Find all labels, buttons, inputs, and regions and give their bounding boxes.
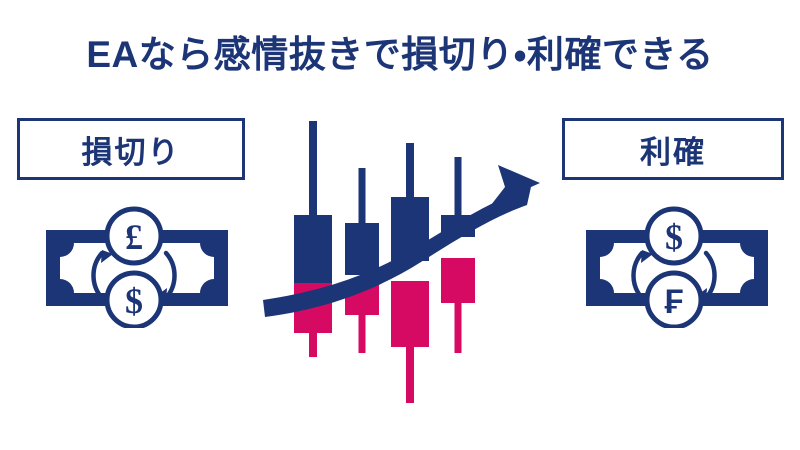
infographic-canvas: EAなら感情抜きで損切り・利確できる 損切り 利確 [0, 0, 800, 450]
candle-pink-body [391, 281, 429, 347]
take-profit-label-box: 利確 [562, 118, 784, 180]
stop-loss-label-text: 損切り [82, 127, 181, 172]
candle-upper-wick [309, 121, 317, 215]
candlestick-chart [255, 95, 555, 415]
candle-lower-wick [359, 315, 366, 353]
take-profit-label-text: 利確 [640, 127, 706, 172]
bottom-currency-coin: ₣ [647, 273, 701, 327]
page-title: EAなら感情抜きで損切り・利確できる [0, 33, 800, 77]
candle-navy-body [345, 223, 379, 275]
currency-exchange-icon-right: $ ₣ [582, 198, 772, 328]
candle-lower-wick [406, 347, 414, 403]
currency-exchange-banknote-usd-franc-icon: $ ₣ [582, 198, 772, 328]
candle-upper-wick [455, 157, 462, 215]
bottom-currency-symbol: $ [125, 281, 143, 321]
bottom-currency-coin: $ [107, 273, 161, 327]
currency-exchange-icon-left: £ $ [42, 198, 232, 328]
candle-pink-body [441, 258, 475, 303]
top-currency-symbol: $ [665, 217, 683, 257]
top-currency-coin: £ [107, 209, 161, 263]
top-currency-symbol: £ [125, 217, 143, 257]
bottom-currency-symbol: ₣ [665, 283, 684, 321]
top-currency-coin: $ [647, 209, 701, 263]
candle-upper-wick [359, 168, 366, 223]
candle-lower-wick [309, 333, 317, 357]
currency-exchange-banknote-gbp-usd-icon: £ $ [42, 198, 232, 328]
candle-lower-wick [455, 303, 462, 353]
candlestick-chart-svg [255, 95, 555, 415]
stop-loss-label-box: 損切り [17, 118, 245, 180]
candle-navy-body [294, 215, 332, 283]
candle-upper-wick [406, 143, 414, 197]
